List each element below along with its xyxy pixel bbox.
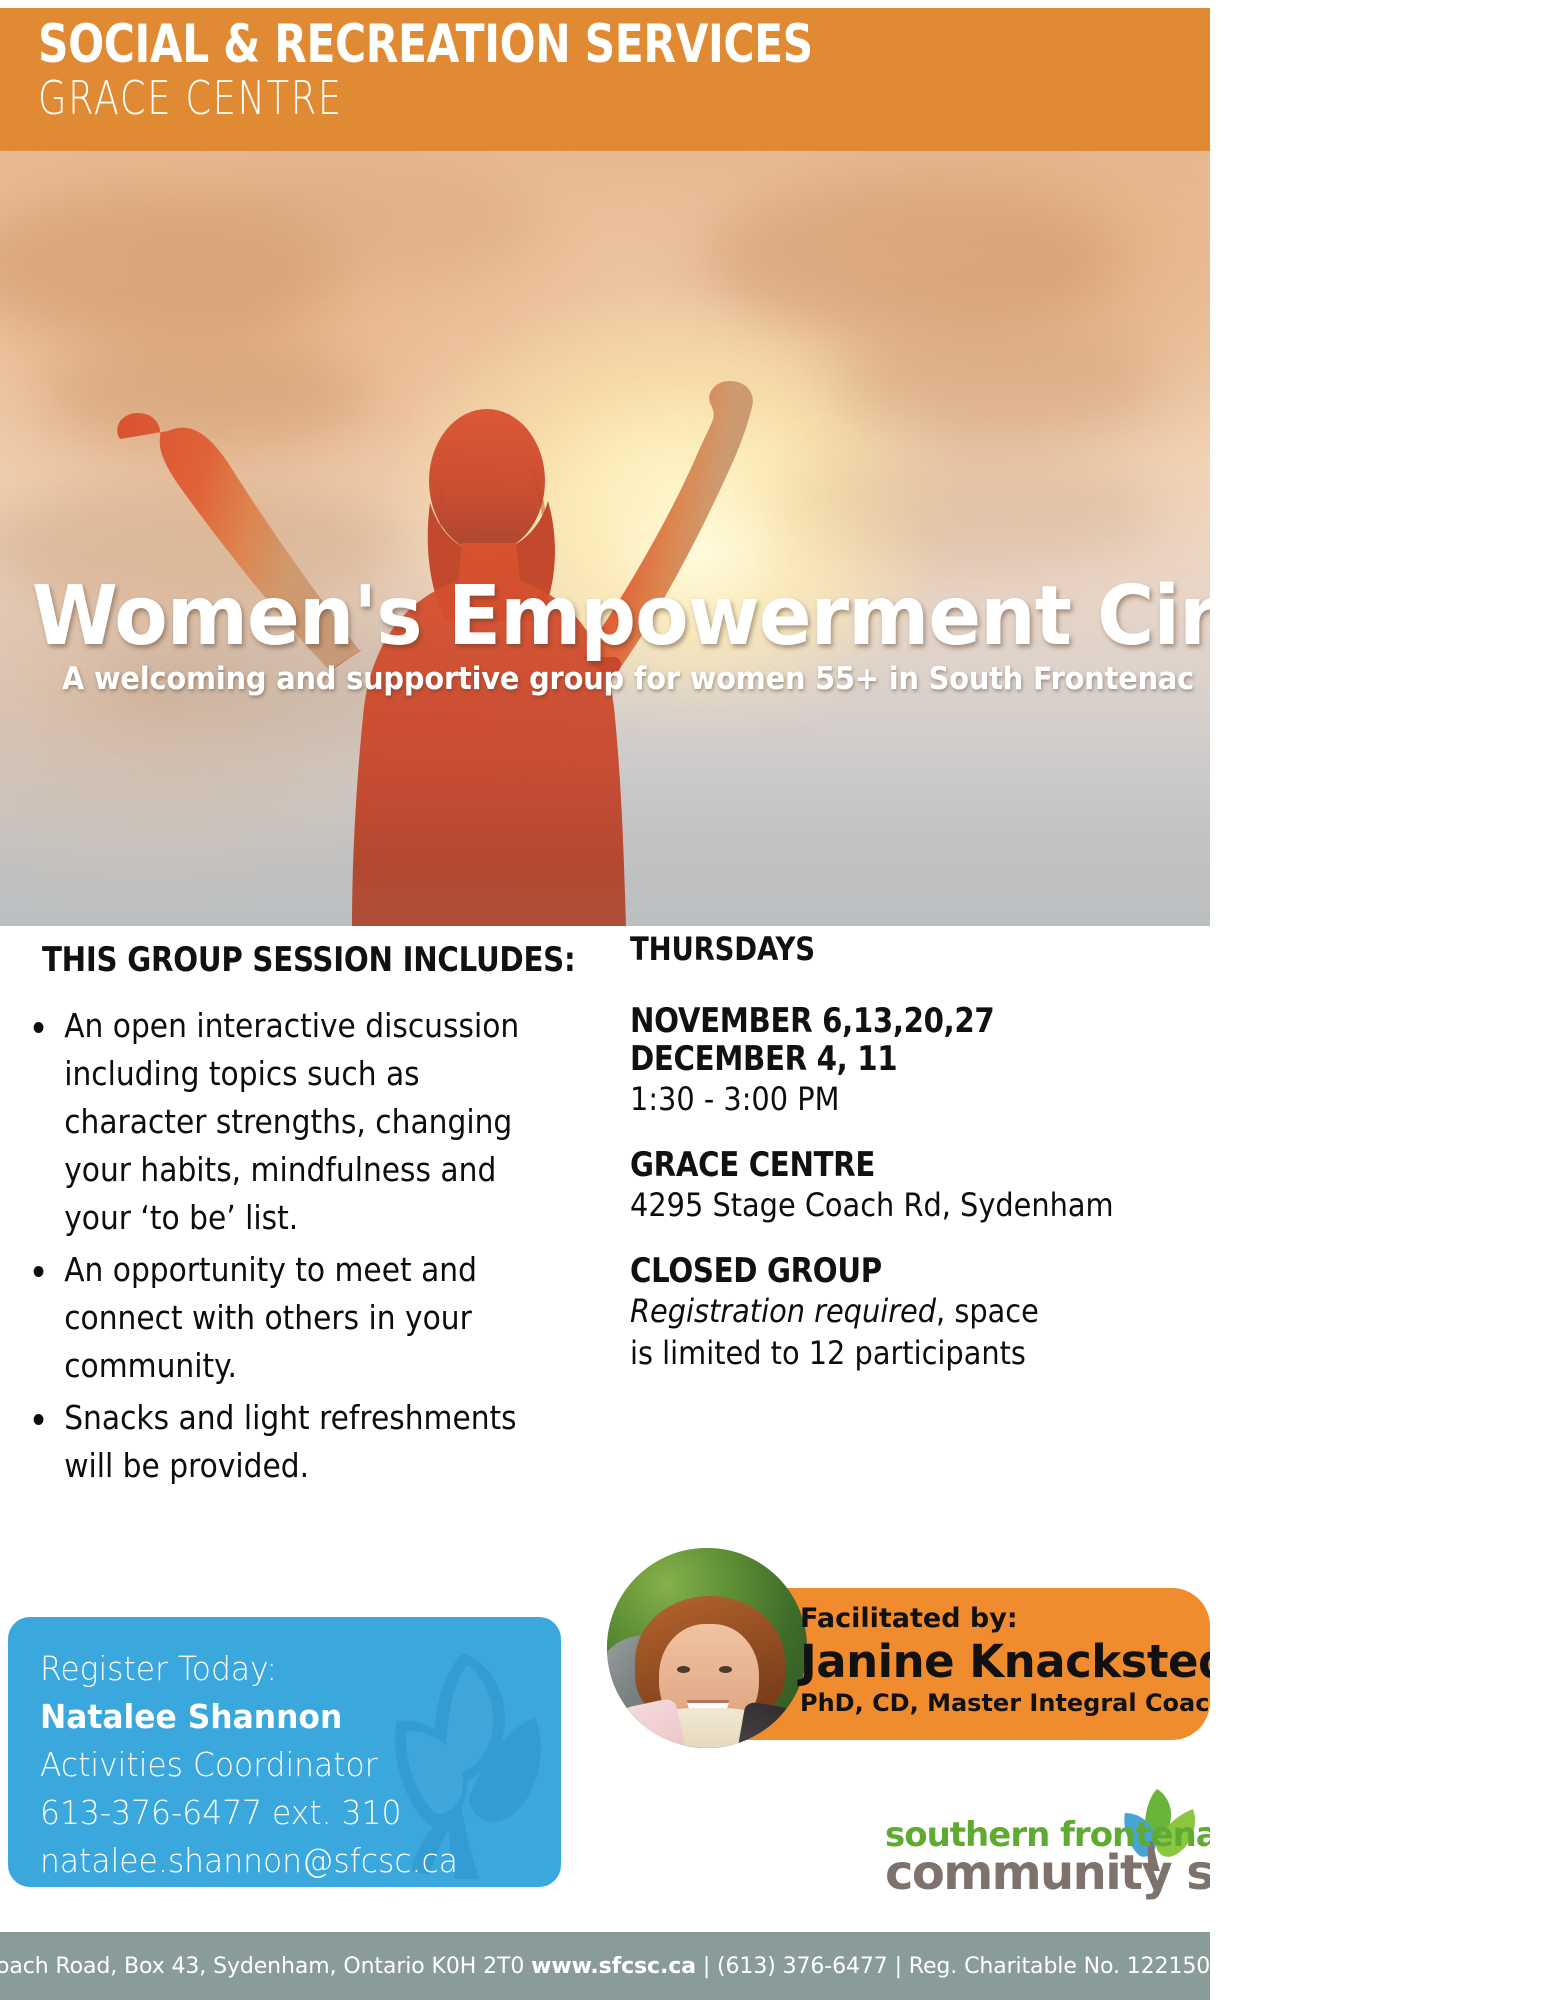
sfcs-logo: southern frontenac community services <box>885 1795 1205 1910</box>
footer-website[interactable]: www.sfcsc.ca <box>531 1954 696 1979</box>
facilitator-avatar <box>607 1548 807 1748</box>
weekday-heading: THURSDAYS <box>630 930 1129 968</box>
register-text-block: Register Today: Natalee Shannon Activiti… <box>40 1645 470 1885</box>
right-margin-area <box>1210 0 1545 2000</box>
session-details-column: THIS GROUP SESSION INCLUDES: An open int… <box>0 940 620 1494</box>
list-item: An opportunity to meet and connect with … <box>30 1246 561 1390</box>
schedule-column: THURSDAYS NOVEMBER 6,13,20,27 DECEMBER 4… <box>630 930 1210 1374</box>
register-contact-card[interactable]: Register Today: Natalee Shannon Activiti… <box>8 1617 561 1887</box>
closed-group-heading: CLOSED GROUP <box>630 1252 1129 1290</box>
footer-contact-line: 4295 Stagecoach Road, Box 43, Sydenham, … <box>0 1954 1210 1979</box>
list-item: Snacks and light refreshments will be pr… <box>30 1394 561 1490</box>
dates-november: NOVEMBER 6,13,20,27 <box>630 1002 1129 1040</box>
coordinator-email[interactable]: natalee.shannon@sfcsc.ca <box>40 1837 449 1885</box>
register-today-label: Register Today: <box>40 1645 449 1693</box>
org-header-bar: SOCIAL & RECREATION SERVICES GRACE CENTR… <box>0 8 1210 151</box>
dates-december: DECEMBER 4, 11 <box>630 1040 1129 1078</box>
venue-heading: GRACE CENTRE <box>630 1146 1129 1184</box>
poster-canvas: SOCIAL & RECREATION SERVICES GRACE CENTR… <box>0 0 1210 2000</box>
venue-address: 4295 Stage Coach Rd, Sydenham <box>630 1184 1152 1226</box>
list-item: An open interactive discussion including… <box>30 1002 561 1242</box>
poster-subtitle: A welcoming and supportive group for wom… <box>62 661 1194 697</box>
footer-bar: 4295 Stagecoach Road, Box 43, Sydenham, … <box>0 1932 1210 2000</box>
hero-bottom-fade <box>0 806 1210 926</box>
poster-title: Women's Empowerment Circle <box>32 574 1210 660</box>
org-subtitle: GRACE CENTRE <box>38 73 976 123</box>
session-includes-list: An open interactive discussion including… <box>0 1002 620 1490</box>
coordinator-phone[interactable]: 613-376-6477 ext. 310 <box>40 1789 449 1837</box>
coordinator-name: Natalee Shannon <box>40 1693 449 1741</box>
registration-note-line1: Registration required, space <box>630 1290 1152 1332</box>
footer-rest-part: | (613) 376-6477 | Reg. Charitable No. 1… <box>696 1954 1210 1979</box>
footer-address-part: 4295 Stagecoach Road, Box 43, Sydenham, … <box>0 1954 531 1979</box>
section-heading-includes: THIS GROUP SESSION INCLUDES: <box>42 940 539 980</box>
registration-required-emphasis: Registration required <box>630 1292 936 1330</box>
registration-note-line2: is limited to 12 participants <box>630 1332 1152 1374</box>
facilitator-name: Janine Knackstedt <box>800 1636 1200 1688</box>
org-title: SOCIAL & RECREATION SERVICES <box>38 16 976 73</box>
facilitator-text-block: Facilitated by: Janine Knackstedt PhD, C… <box>800 1602 1200 1718</box>
facilitated-by-label: Facilitated by: <box>800 1602 1200 1636</box>
registration-note-rest: , space <box>936 1292 1039 1330</box>
logo-text-line2: community services <box>885 1847 1210 1899</box>
coordinator-role: Activities Coordinator <box>40 1741 449 1789</box>
hero-banner: Women's Empowerment Circle A welcoming a… <box>0 151 1210 926</box>
session-time: 1:30 - 3:00 PM <box>630 1078 1152 1120</box>
facilitator-credentials: PhD, CD, Master Integral Coach™ <box>800 1688 1200 1718</box>
